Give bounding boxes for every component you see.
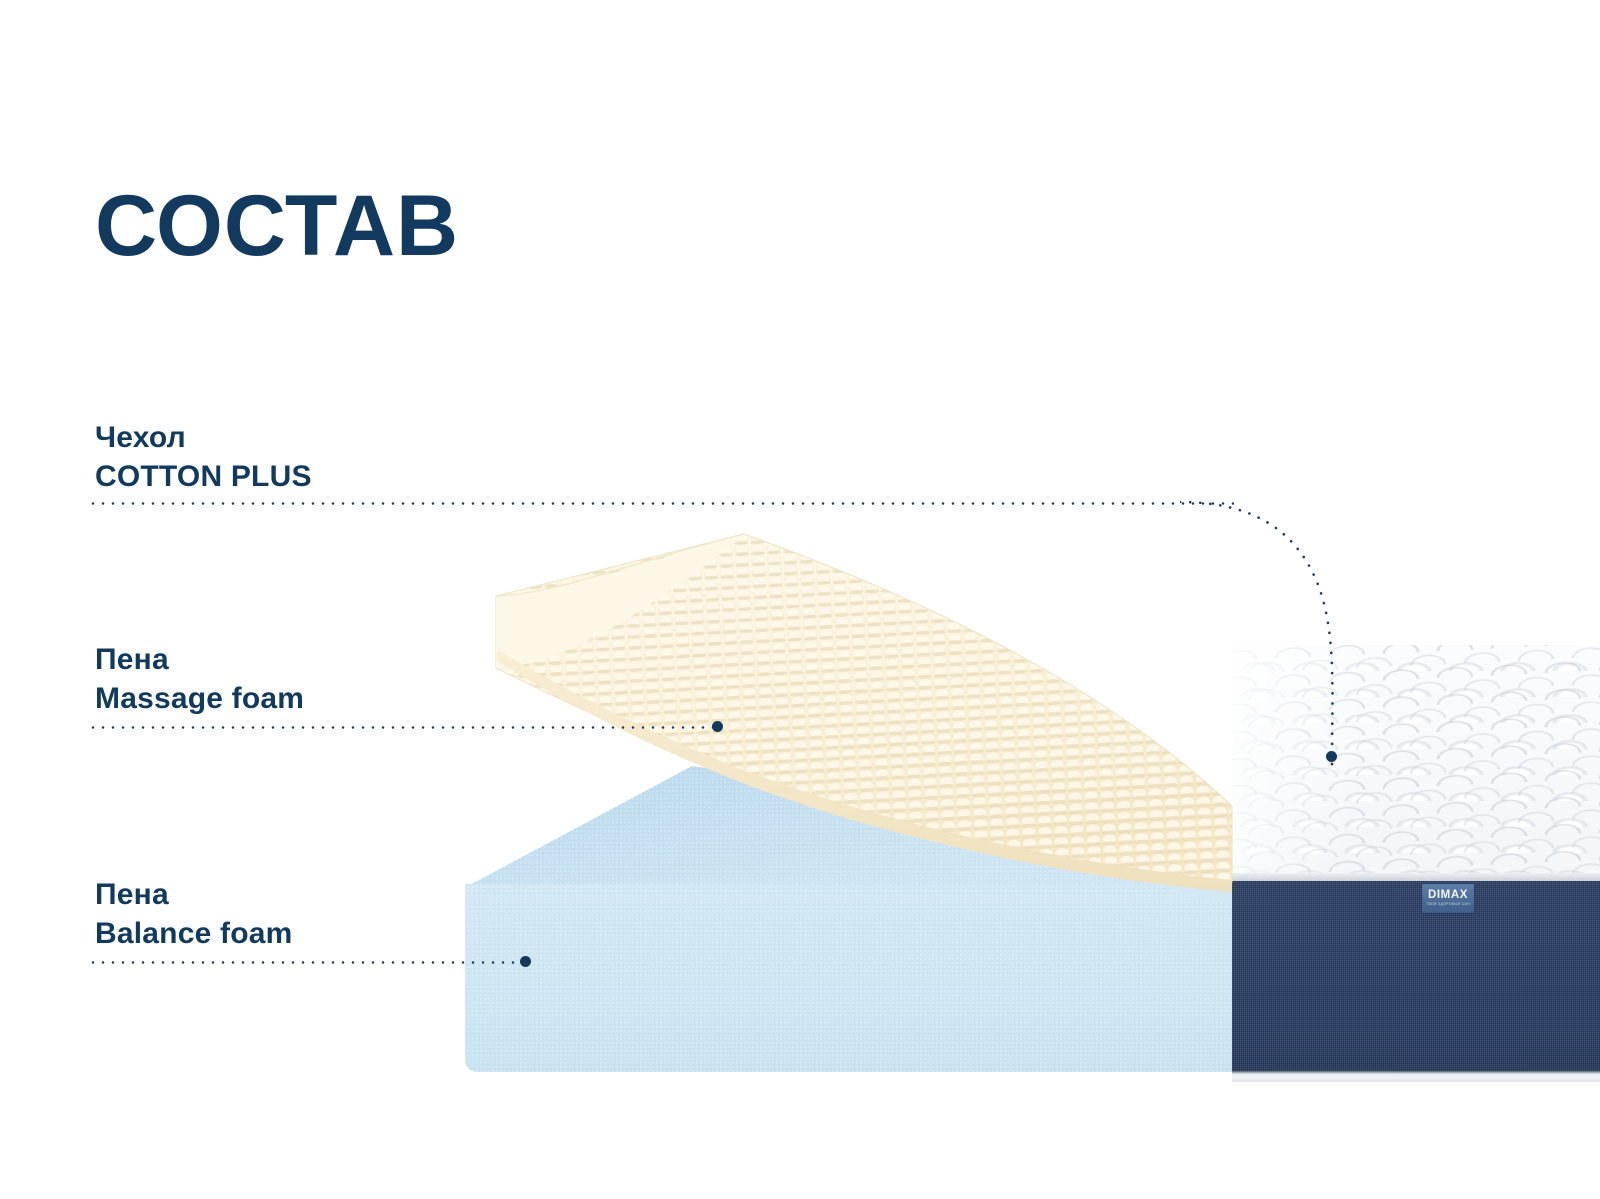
leader-endpoint-cover [1326,751,1337,762]
leader-line-cover [88,502,1234,505]
callout-massage-line1: Пена [95,640,304,679]
brand-name: DIMAX [1428,890,1468,902]
brand-tagline: ТВОЙ ЗДОРОВЫЙ СОН [1426,904,1470,907]
callout-massage-line2: Massage foam [95,679,304,718]
massage-foam-lifted-corner [496,534,744,668]
leader-line-balance-foam [88,961,525,964]
callout-balance-foam: Пена Balance foam [95,875,292,954]
leader-endpoint-balance-foam [520,956,531,967]
band-bottom-piping [1232,1071,1600,1082]
leader-endpoint-massage-foam [712,721,723,732]
callout-cover: Чехол COTTON PLUS [95,418,312,497]
callout-massage-foam: Пена Massage foam [95,640,304,719]
dimax-brand-label: DIMAX ТВОЙ ЗДОРОВЫЙ СОН [1422,884,1474,913]
leader-line-cover-curve [1180,480,1400,780]
callout-balance-line1: Пена [95,875,292,914]
composition-infographic: СОСТАВ DIMAX ТВОЙ ЗДОРОВЫЙ СОН [0,0,1600,1199]
callout-balance-line2: Balance foam [95,914,292,953]
mattress-side-band [1232,881,1600,1071]
balance-foam-front-face [465,884,1252,1072]
callout-cover-line2: COTTON PLUS [95,457,312,496]
callout-cover-line1: Чехол [95,418,312,457]
leader-line-massage-foam [88,726,716,729]
